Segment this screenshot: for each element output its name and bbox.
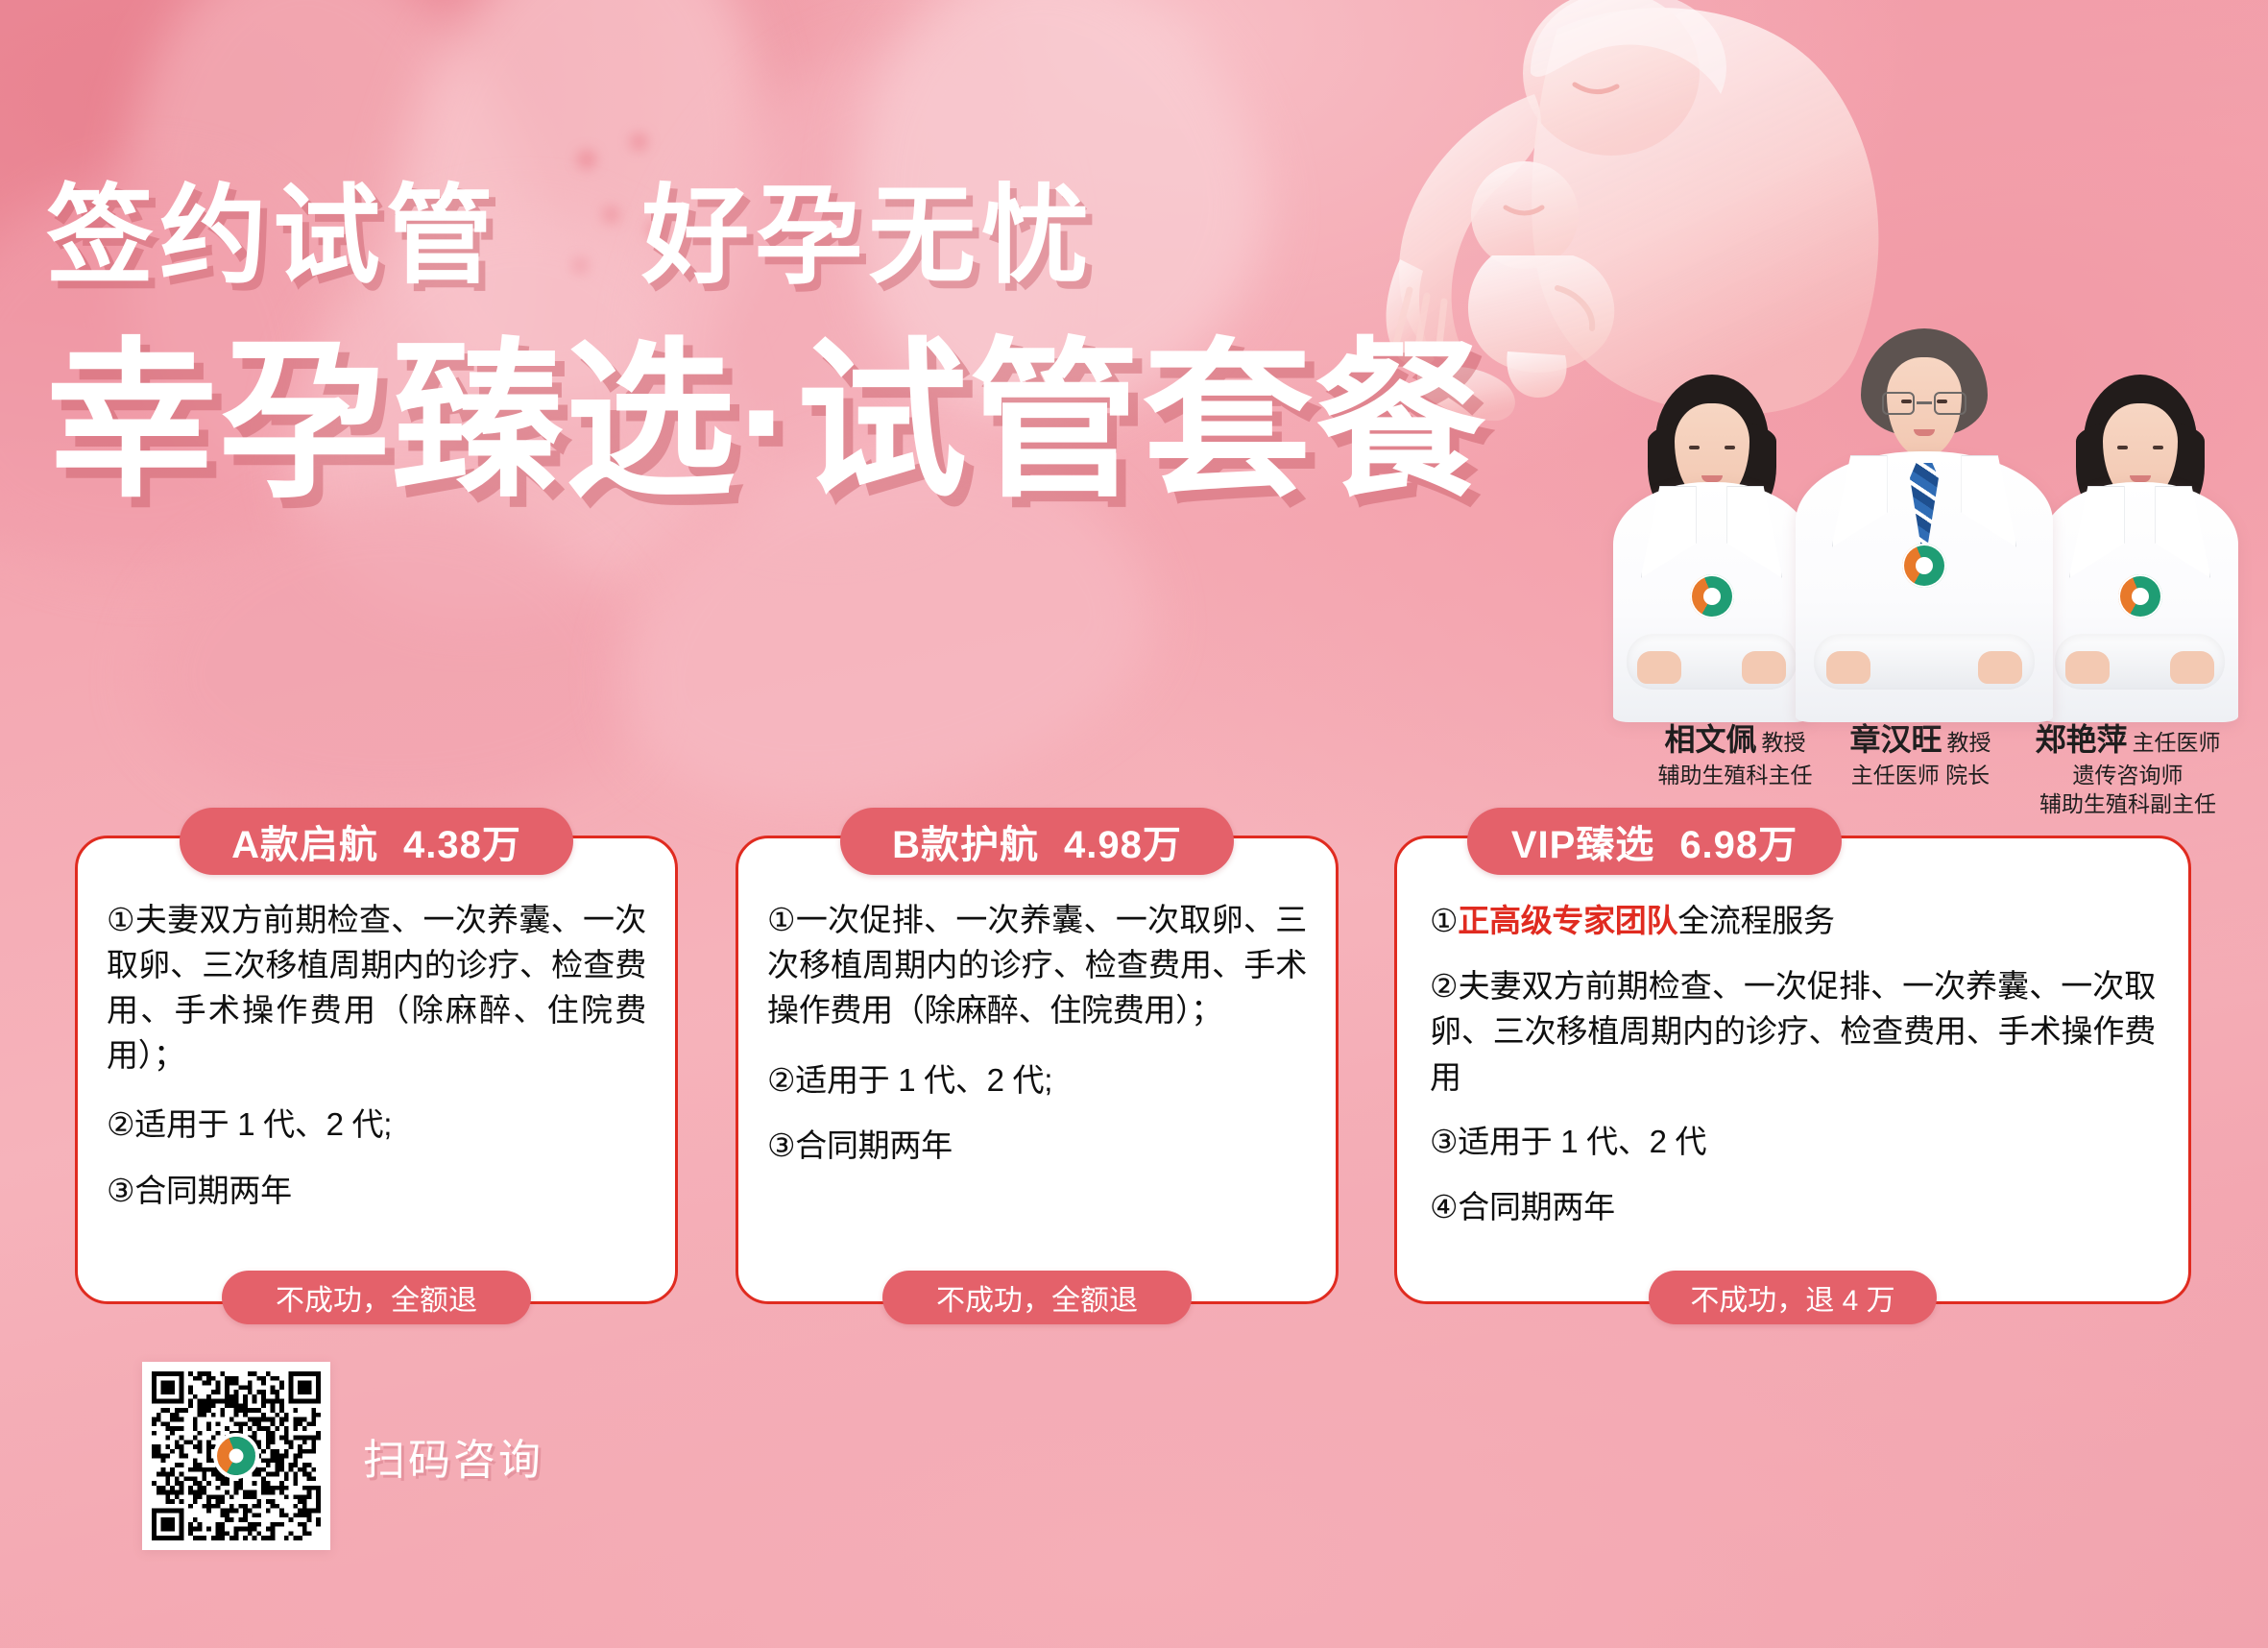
hand-left <box>1826 651 1870 684</box>
qr-consult-block[interactable]: 扫码咨询 <box>142 1362 543 1550</box>
collar-left <box>1641 486 1697 578</box>
doctor-credential-3: 郑艳萍主任医师 遗传咨询师 辅助生殖科副主任 <box>2011 722 2245 819</box>
tagline: 签约试管 好孕无忧 <box>46 171 1314 303</box>
hand-right <box>1742 651 1786 684</box>
doctor-photo-1 <box>1613 482 1810 722</box>
package-a-item-2: ②适用于 1 代、2 代; <box>107 1103 646 1148</box>
package-b-header: B款护航 4.98万 <box>840 808 1234 875</box>
hand-left <box>1637 651 1681 684</box>
doctor-title: 教授 <box>1762 730 1806 755</box>
doctor-name-line: 郑艳萍主任医师 <box>2018 722 2237 759</box>
necktie <box>1910 463 1939 545</box>
package-a-header: A款启航 4.38万 <box>180 808 573 875</box>
promotional-poster: 签约试管 好孕无忧 幸孕臻选·试管套餐 <box>0 0 2268 1648</box>
page-title: 幸孕臻选·试管套餐 <box>46 326 1314 517</box>
doctor-name: 相文佩 <box>1664 722 1756 757</box>
package-vip-item-3: ③适用于 1 代、2 代 <box>1430 1119 2156 1165</box>
doctor-subtitle: 辅助生殖科主任 <box>1648 762 1822 790</box>
collar-right <box>1726 486 1782 578</box>
doctor-credential-2: 章汉旺教授 主任医师 院长 <box>1830 722 2011 790</box>
package-vip-item-2: ②夫妻双方前期检查、一次促排、一次养囊、一次取卵、三次移植周期内的诊疗、检查费用… <box>1430 963 2156 1101</box>
collar-right <box>2155 486 2210 578</box>
eye-right <box>2153 446 2163 449</box>
headline-block: 签约试管 好孕无忧 幸孕臻选·试管套餐 <box>46 171 1314 517</box>
white-coat <box>1796 451 2053 722</box>
package-cards: A款启航 4.38万 ①夫妻双方前期检查、一次养囊、一次取卵、三次移植周期内的诊… <box>0 814 2268 1314</box>
doctor-credential-1: 相文佩教授 辅助生殖科主任 <box>1640 722 1830 790</box>
eye-right <box>1725 446 1735 449</box>
package-a-item-1: ①夫妻双方前期检查、一次养囊、一次取卵、三次移植周期内的诊疗、检查费用、手术操作… <box>107 898 646 1078</box>
doctor-subtitle: 遗传咨询师 <box>2018 762 2237 790</box>
package-a-guarantee-badge: 不成功，全额退 <box>222 1271 531 1324</box>
package-b-body: ①一次促排、一次养囊、一次取卵、三次移植周期内的诊疗、检查费用、手术操作费用（除… <box>738 838 1336 1169</box>
doctor-title: 教授 <box>1947 730 1991 755</box>
doctor-photo-3 <box>2041 482 2238 722</box>
hospital-logo-icon <box>217 1437 255 1475</box>
doctor-subtitle: 主任医师 院长 <box>1838 762 2003 790</box>
package-b-guarantee-badge: 不成功，全额退 <box>882 1271 1192 1324</box>
doctor-name: 郑艳萍 <box>2035 722 2127 757</box>
eye-left <box>2117 446 2128 449</box>
package-vip-item-1-prefix: ① <box>1430 903 1458 938</box>
package-a-name: A款启航 <box>231 813 378 869</box>
hand-right <box>2170 651 2214 684</box>
doctor-name-line: 章汉旺教授 <box>1838 722 2003 759</box>
package-a-item-3: ③合同期两年 <box>107 1169 646 1214</box>
white-coat <box>2041 482 2238 722</box>
doctor-title: 主任医师 <box>2133 730 2221 755</box>
package-b-item-1: ①一次促排、一次养囊、一次取卵、三次移植周期内的诊疗、检查费用、手术操作费用（除… <box>767 898 1307 1033</box>
hospital-logo-icon <box>1690 574 1734 618</box>
qr-code[interactable] <box>142 1362 330 1550</box>
doctor-photo-2 <box>1796 451 2053 722</box>
package-b-item-3: ③合同期两年 <box>767 1124 1307 1169</box>
collar-right <box>1961 455 2016 547</box>
package-vip-item-1-highlight: 正高级专家团队 <box>1458 903 1677 938</box>
package-card-vip[interactable]: VIP臻选 6.98万 ①正高级专家团队全流程服务 ②夫妻双方前期检查、一次促排… <box>1394 836 2191 1304</box>
mouth <box>2130 475 2151 482</box>
eye-left <box>1689 446 1700 449</box>
qr-caption: 扫码咨询 <box>363 1425 543 1487</box>
package-b-name: B款护航 <box>892 813 1039 869</box>
hand-right <box>1978 651 2022 684</box>
tagline-left: 签约试管 <box>46 176 499 296</box>
doctor-team-photo <box>1607 319 2241 722</box>
glasses-icon <box>1880 392 1968 417</box>
package-b-item-2: ②适用于 1 代、2 代; <box>767 1058 1307 1103</box>
hospital-logo-icon <box>2118 574 2162 618</box>
package-a-body: ①夫妻双方前期检查、一次养囊、一次取卵、三次移植周期内的诊疗、检查费用、手术操作… <box>78 838 675 1214</box>
package-vip-name: VIP臻选 <box>1511 813 1654 869</box>
doctor-name: 章汉旺 <box>1849 722 1942 757</box>
hospital-logo-icon <box>1902 544 1946 588</box>
package-vip-guarantee-badge: 不成功，退 4 万 <box>1649 1271 1937 1324</box>
tagline-right: 好孕无忧 <box>641 176 1095 296</box>
package-vip-item-4: ④合同期两年 <box>1430 1184 2156 1230</box>
mouth <box>1914 429 1935 436</box>
package-vip-header: VIP臻选 6.98万 <box>1467 808 1842 875</box>
package-vip-item-1: ①正高级专家团队全流程服务 <box>1430 898 2156 944</box>
doctor-name-line: 相文佩教授 <box>1648 722 1822 759</box>
package-card-b[interactable]: B款护航 4.98万 ①一次促排、一次养囊、一次取卵、三次移植周期内的诊疗、检查… <box>736 836 1339 1304</box>
package-vip-body: ①正高级专家团队全流程服务 ②夫妻双方前期检查、一次促排、一次养囊、一次取卵、三… <box>1397 838 2188 1229</box>
doctor-credentials: 相文佩教授 辅助生殖科主任 章汉旺教授 主任医师 院长 郑艳萍主任医师 遗传咨询… <box>1611 722 2245 819</box>
white-coat <box>1613 482 1810 722</box>
mouth <box>1701 475 1723 482</box>
collar-left <box>2069 486 2125 578</box>
collar-left <box>1832 455 1888 547</box>
package-vip-item-1-suffix: 全流程服务 <box>1677 903 1835 938</box>
package-vip-price: 6.98万 <box>1679 813 1798 869</box>
package-card-a[interactable]: A款启航 4.38万 ①夫妻双方前期检查、一次养囊、一次取卵、三次移植周期内的诊… <box>75 836 678 1304</box>
package-b-price: 4.98万 <box>1064 813 1182 869</box>
hand-left <box>2065 651 2110 684</box>
package-a-price: 4.38万 <box>403 813 521 869</box>
